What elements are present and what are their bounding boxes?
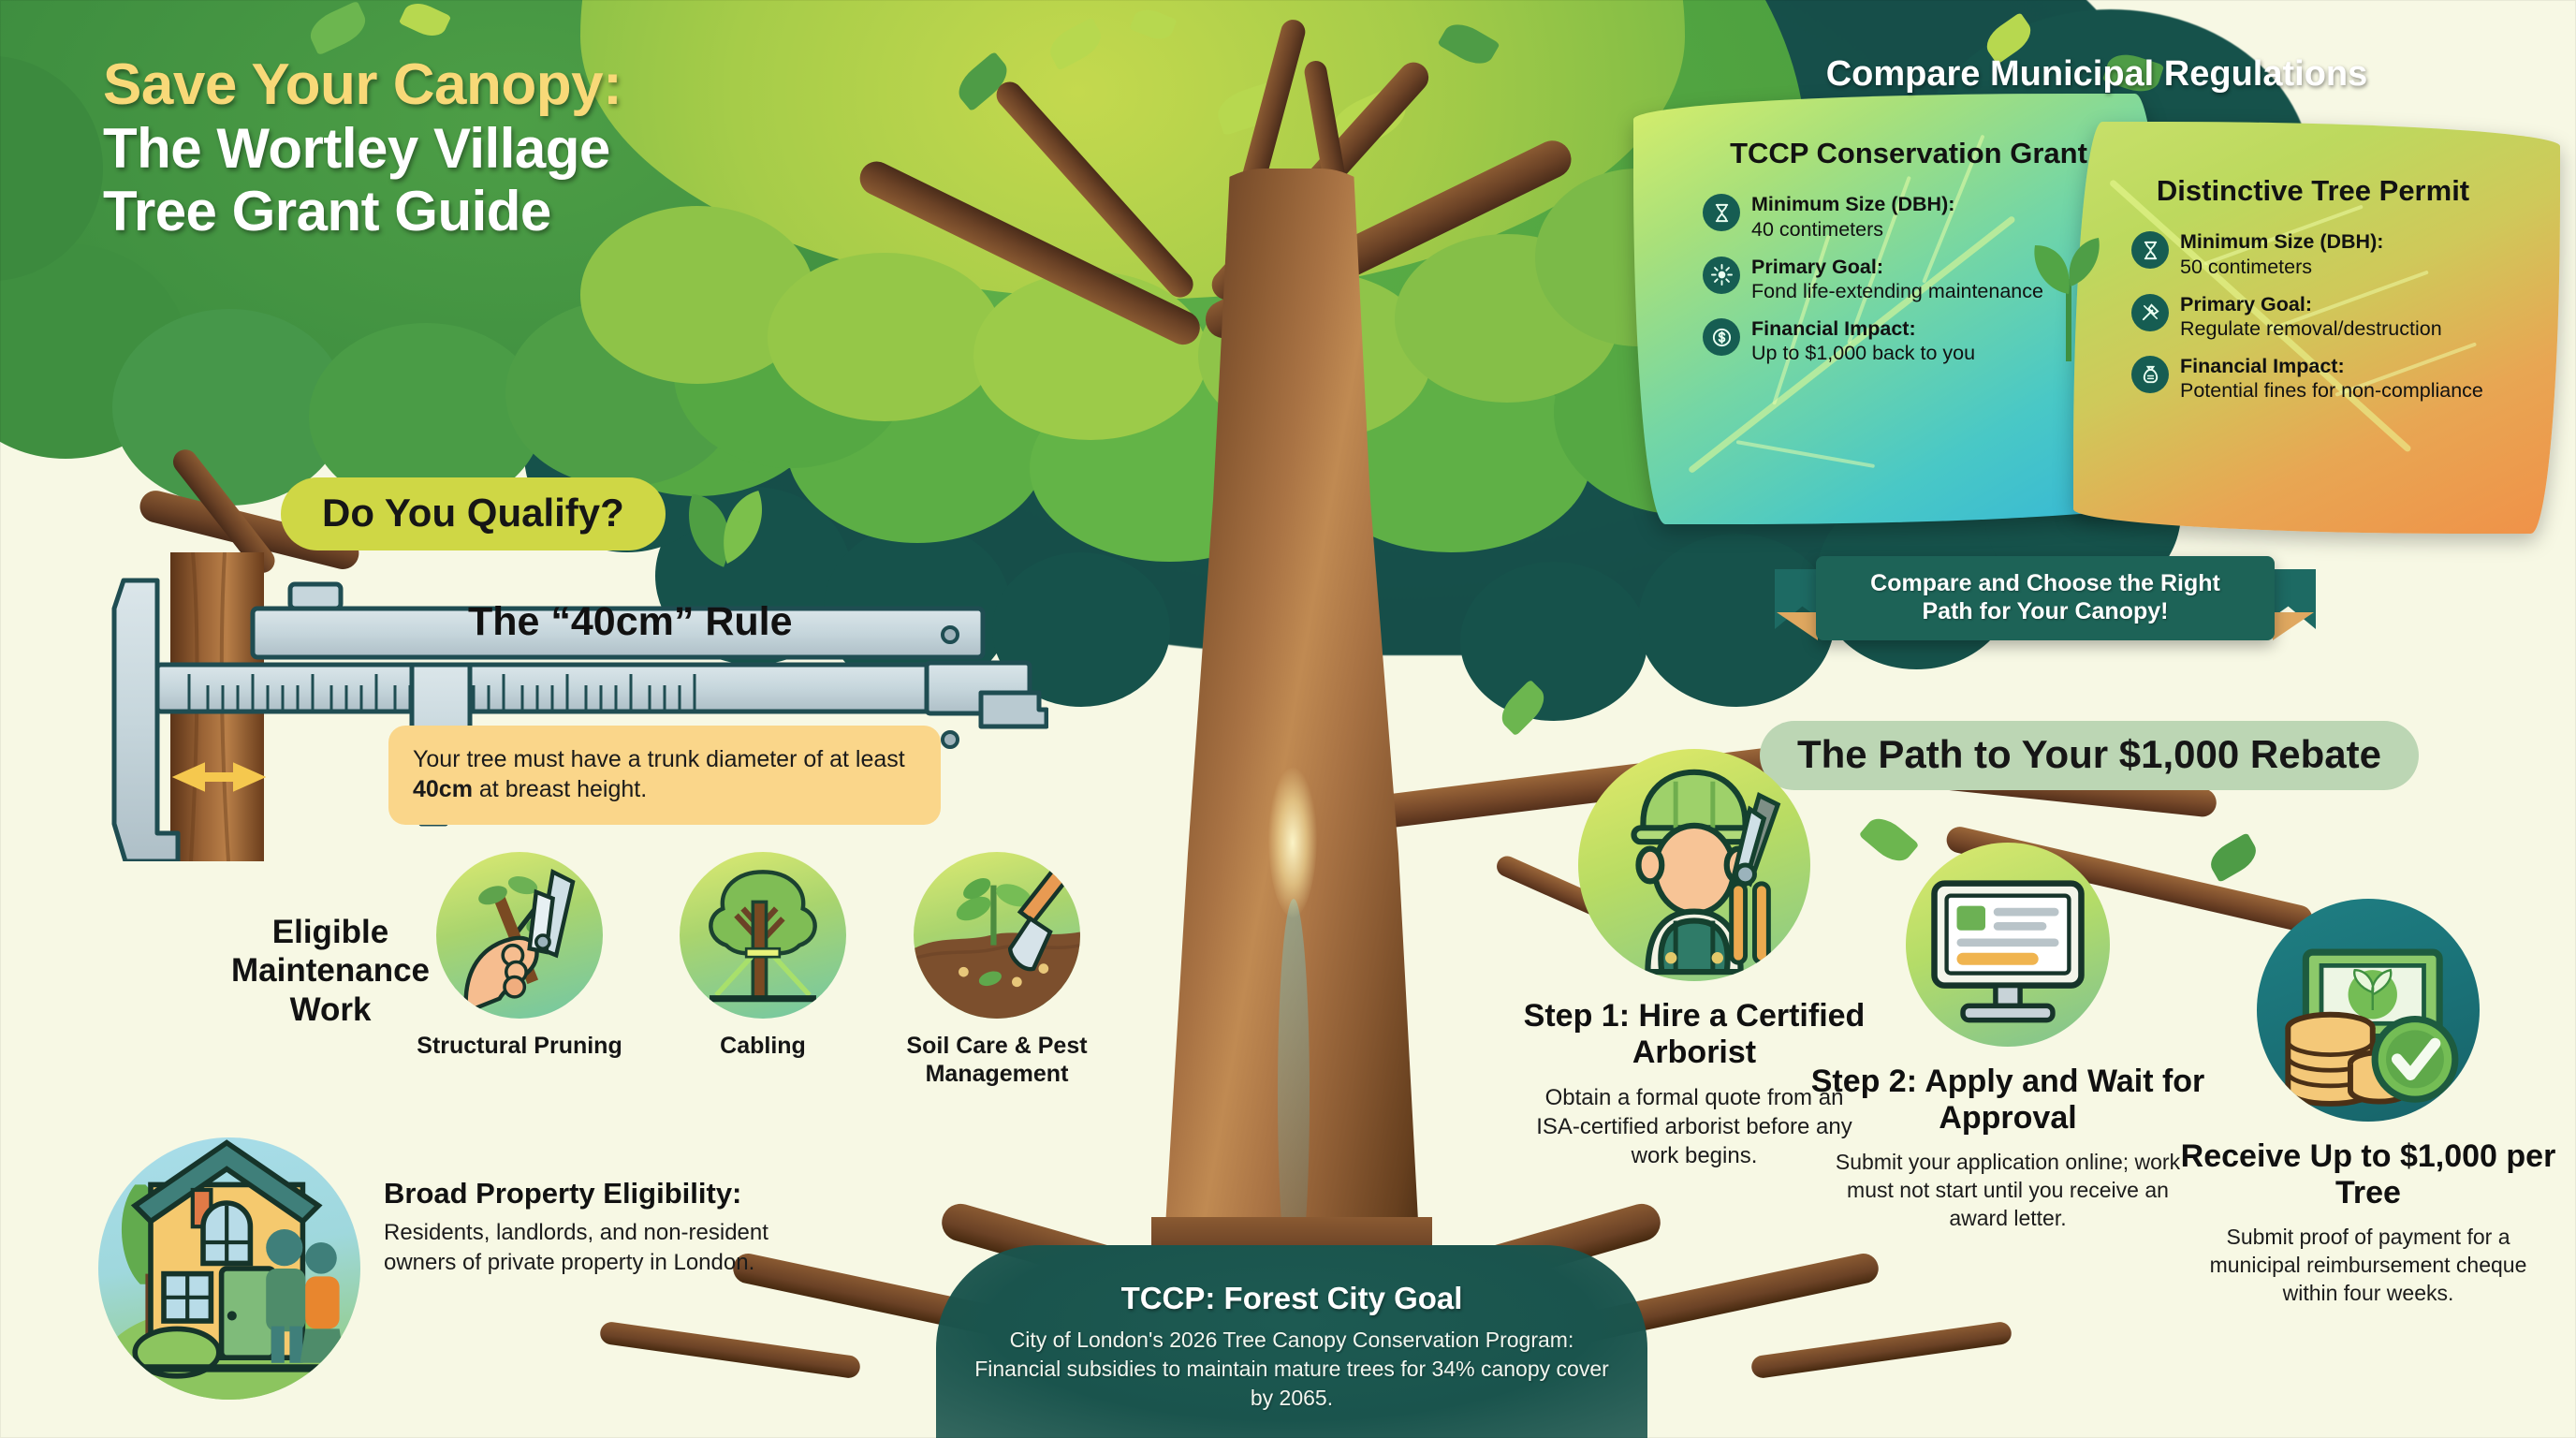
fact-value: Potential fines for non-compliance: [2180, 379, 2483, 402]
regulation-card-distinctive-permit[interactable]: Distinctive Tree Permit Minimum Size (DB…: [2073, 122, 2560, 534]
step-body: Submit your application online; work mus…: [1807, 1149, 2209, 1233]
ribbon-text: Compare and Choose the Right Path for Yo…: [1870, 570, 2220, 624]
hourglass-icon: [2131, 231, 2169, 269]
fact-label: Financial Impact:: [1751, 317, 1916, 340]
title-line-2: The Wortley Village: [103, 117, 983, 180]
sun-burst-icon: [1703, 257, 1740, 294]
fact-label: Minimum Size (DBH):: [2180, 230, 2383, 253]
fact-text: Primary Goal: Fond life-extending mainte…: [1751, 255, 2043, 303]
qualify-pill[interactable]: Do You Qualify?: [281, 477, 666, 550]
soil-trowel-icon: [914, 852, 1080, 1019]
fact-value: Regulate removal/destruction: [2180, 317, 2442, 340]
fact-row: Financial Impact: Potential fines for no…: [2131, 354, 2495, 403]
tree-cabling-icon: [680, 852, 846, 1019]
ribbon-body: Compare and Choose the Right Path for Yo…: [1816, 556, 2275, 640]
work-item-pruning[interactable]: Structural Pruning: [412, 852, 627, 1060]
root: [1750, 1321, 2013, 1380]
fact-value: 40 contimeters: [1751, 218, 1883, 241]
callout-text: Your tree must have a trunk diameter of …: [413, 744, 916, 804]
cash-check-icon: [2257, 899, 2480, 1122]
property-heading: Broad Property Eligibility:: [384, 1177, 777, 1211]
goal-heading: TCCP: Forest City Goal: [969, 1281, 1615, 1316]
title-line-3: Tree Grant Guide: [103, 180, 983, 242]
fact-label: Primary Goal:: [2180, 293, 2312, 315]
work-caption: Cabling: [655, 1032, 871, 1060]
property-body: Residents, landlords, and non-resident o…: [384, 1218, 777, 1277]
step-title: Step 2: Apply and Wait for Approval: [1807, 1064, 2209, 1137]
callout-post: at breast height.: [473, 776, 647, 802]
rule-title: The “40cm” Rule: [468, 599, 793, 645]
fact-text: Minimum Size (DBH): 50 contimeters: [2180, 229, 2383, 278]
fact-text: Minimum Size (DBH): 40 contimeters: [1751, 192, 1954, 241]
fact-text: Financial Impact: Potential fines for no…: [2180, 354, 2483, 403]
diameter-callout: Your tree must have a trunk diameter of …: [388, 726, 941, 825]
fact-row: Primary Goal: Regulate removal/destructi…: [2131, 292, 2495, 341]
qualify-pill-label: Do You Qualify?: [322, 491, 624, 536]
qualify-leaf-icon: [665, 473, 786, 571]
eligible-work-label: Eligible Maintenance Work: [223, 913, 438, 1029]
fact-value: Fond life-extending maintenance: [1751, 280, 2043, 302]
fact-label: Financial Impact:: [2180, 355, 2345, 377]
card-heading: Distinctive Tree Permit: [2131, 174, 2495, 207]
step-2-apply-wait[interactable]: Step 2: Apply and Wait for Approval Subm…: [1807, 843, 2209, 1233]
house-family-icon: [98, 1137, 360, 1400]
work-item-cabling[interactable]: Cabling: [655, 852, 871, 1060]
root: [599, 1321, 862, 1380]
callout-bold: 40cm: [413, 776, 473, 802]
canopy-scallop: [1460, 562, 1647, 721]
fact-text: Primary Goal: Regulate removal/destructi…: [2180, 292, 2442, 341]
step-body: Submit proof of payment for a municipal …: [2172, 1224, 2565, 1308]
work-caption: Soil Care & Pest Management: [889, 1032, 1105, 1088]
card-heading: TCCP Conservation Grant: [1703, 137, 2115, 169]
branch-leaf: [2204, 832, 2261, 883]
callout-pre: Your tree must have a trunk diameter of …: [413, 746, 905, 772]
tccp-goal-block: TCCP: Forest City Goal City of London's …: [969, 1281, 1615, 1412]
fact-value: Up to $1,000 back to you: [1751, 342, 1975, 364]
dollar-coin-icon: [1703, 318, 1740, 356]
computer-form-icon: [1906, 843, 2110, 1047]
goal-body: City of London's 2026 Tree Canopy Conser…: [969, 1326, 1615, 1412]
property-text: Broad Property Eligibility: Residents, l…: [384, 1177, 777, 1277]
canopy-lobe: [768, 253, 1002, 421]
fact-label: Minimum Size (DBH):: [1751, 193, 1954, 215]
work-caption: Structural Pruning: [412, 1032, 627, 1060]
title-line-1: Save Your Canopy:: [103, 54, 983, 117]
compare-section-heading: Compare Municipal Regulations: [1769, 54, 2424, 95]
arborist-worker-icon: [1578, 749, 1810, 981]
axe-ban-icon: [2131, 294, 2169, 331]
fact-text: Financial Impact: Up to $1,000 back to y…: [1751, 316, 1975, 365]
compare-ribbon: Compare and Choose the Right Path for Yo…: [1816, 556, 2275, 640]
sprout-icon: [2012, 215, 2125, 365]
page-title: Save Your Canopy: The Wortley Village Tr…: [103, 54, 983, 242]
work-item-soil[interactable]: Soil Care & Pest Management: [889, 852, 1105, 1088]
infographic-canvas: Save Your Canopy: The Wortley Village Tr…: [0, 0, 2576, 1438]
pruning-shears-icon: [436, 852, 603, 1019]
hourglass-icon: [1703, 194, 1740, 231]
money-bag-icon: [2131, 356, 2169, 393]
fact-label: Primary Goal:: [1751, 256, 1883, 278]
step-3-receive-rebate[interactable]: Receive Up to $1,000 per Tree Submit pro…: [2172, 899, 2565, 1308]
step-title: Receive Up to $1,000 per Tree: [2172, 1138, 2565, 1212]
fact-value: 50 contimeters: [2180, 256, 2312, 278]
fact-row: Minimum Size (DBH): 50 contimeters: [2131, 229, 2495, 278]
